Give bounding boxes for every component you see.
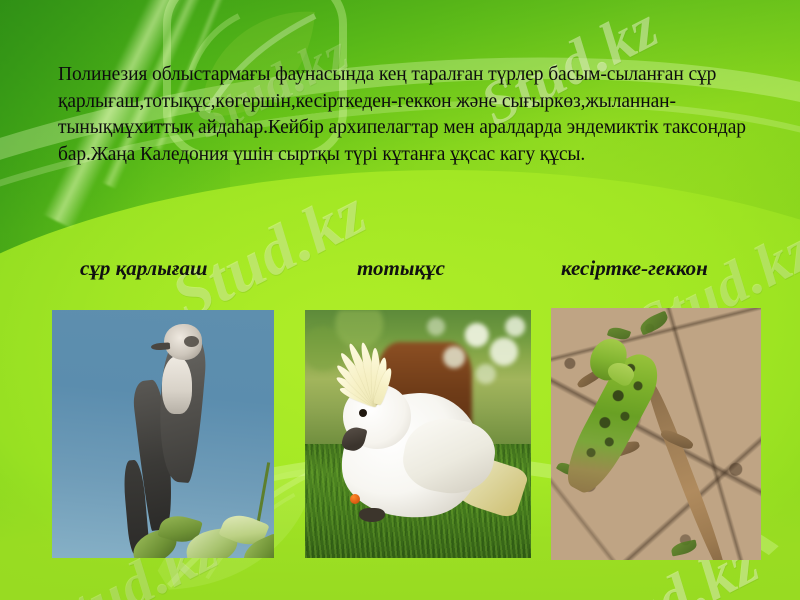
plant-perch: [130, 490, 274, 558]
photo-captions-row: сұр қарлығаш тотықұс кесіртке-геккон: [0, 256, 800, 288]
orange-berry: [350, 494, 360, 504]
bird-eye: [184, 336, 199, 347]
bird-throat: [162, 356, 192, 414]
slide-body-text: Полинезия облыстармағы фаунасында кең та…: [58, 62, 758, 168]
caption-swallow: сұр қарлығаш: [80, 256, 208, 281]
bird-beak: [151, 342, 170, 350]
photo-gecko: [551, 308, 761, 560]
cockatoo-crest: [314, 315, 441, 404]
photo-swallow-content: [52, 310, 274, 558]
caption-gecko: кесіртке-геккон: [561, 256, 708, 281]
photo-gecko-content: [551, 308, 761, 560]
caption-cockatoo: тотықұс: [357, 256, 445, 281]
photo-cockatoo: [305, 310, 531, 558]
photo-swallow: [52, 310, 274, 558]
presentation-slide: Stud.kz Stud.kz Stud.kz Stud.kz Stud.kz …: [0, 0, 800, 600]
body-paragraph: Полинезия облыстармағы фаунасында кең та…: [58, 62, 758, 168]
photo-cockatoo-content: [305, 310, 531, 558]
